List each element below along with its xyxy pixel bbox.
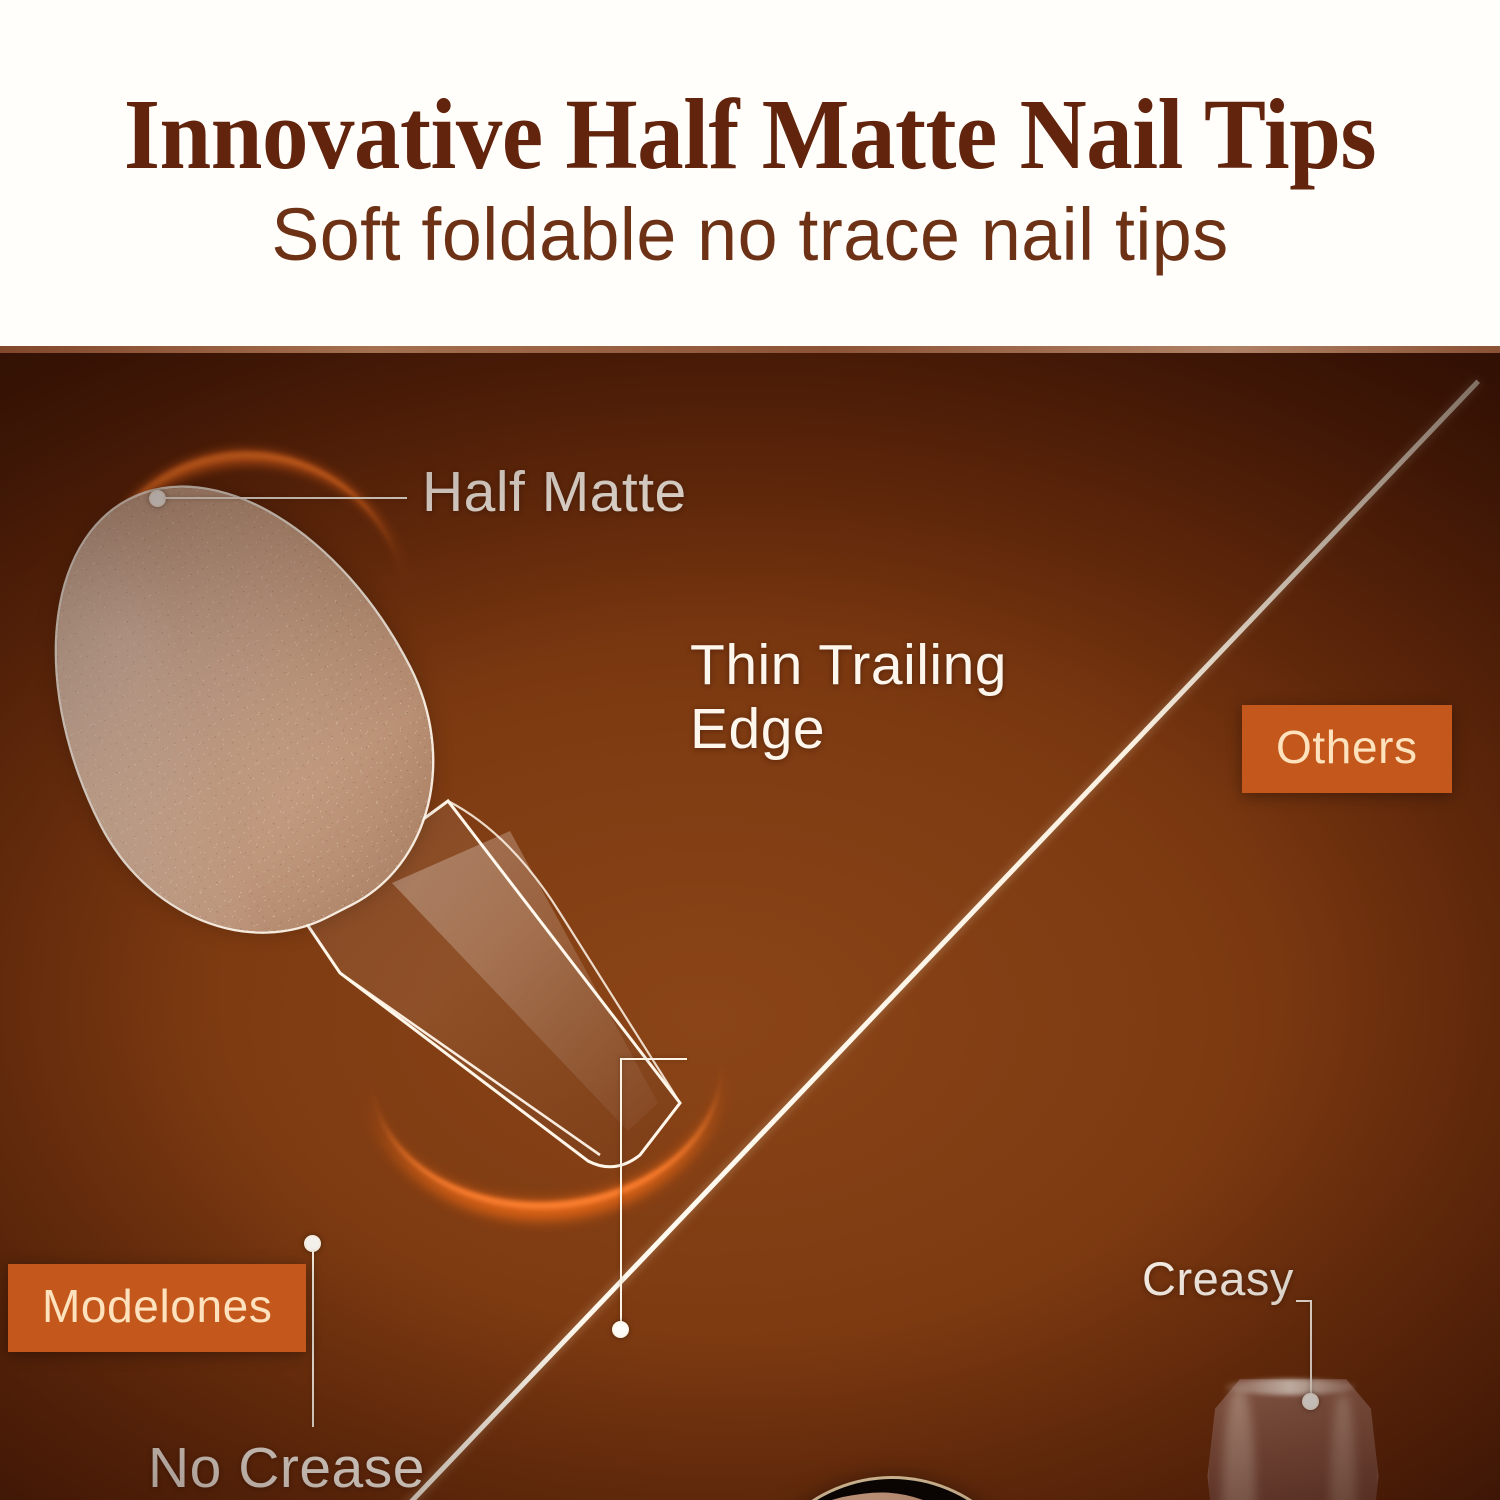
no-crease-leader-line	[312, 1251, 314, 1427]
modelones-nail-tip	[40, 413, 760, 1203]
thin-edge-leader-vertical	[620, 1058, 622, 1333]
callout-no-crease: No Crease	[148, 1437, 425, 1500]
thin-edge-dot-marker	[612, 1321, 629, 1338]
header-divider-strip	[0, 346, 1500, 353]
callout-thin-trailing-edge: Thin Trailing Edge	[690, 634, 1007, 762]
header-banner: Innovative Half Matte Nail Tips Soft fol…	[0, 0, 1500, 346]
competitor-nail-tip	[1198, 1375, 1388, 1500]
callout-half-matte: Half Matte	[422, 461, 687, 525]
product-infographic: Innovative Half Matte Nail Tips Soft fol…	[0, 0, 1500, 1500]
callout-creasy: Creasy	[1142, 1253, 1294, 1306]
creasy-ring-dot-marker	[1302, 1393, 1319, 1410]
page-title: Innovative Half Matte Nail Tips	[60, 84, 1440, 185]
creasy-leader-vertical	[1310, 1300, 1312, 1399]
thin-edge-leader-horizontal	[620, 1058, 687, 1060]
half-matte-leader-line	[165, 497, 407, 499]
badge-modelones: Modelones	[8, 1264, 306, 1352]
page-subtitle: Soft foldable no trace nail tips	[23, 198, 1478, 272]
half-matte-dot-marker	[149, 490, 166, 507]
badge-others: Others	[1242, 705, 1452, 793]
no-crease-dot-marker	[304, 1235, 321, 1252]
